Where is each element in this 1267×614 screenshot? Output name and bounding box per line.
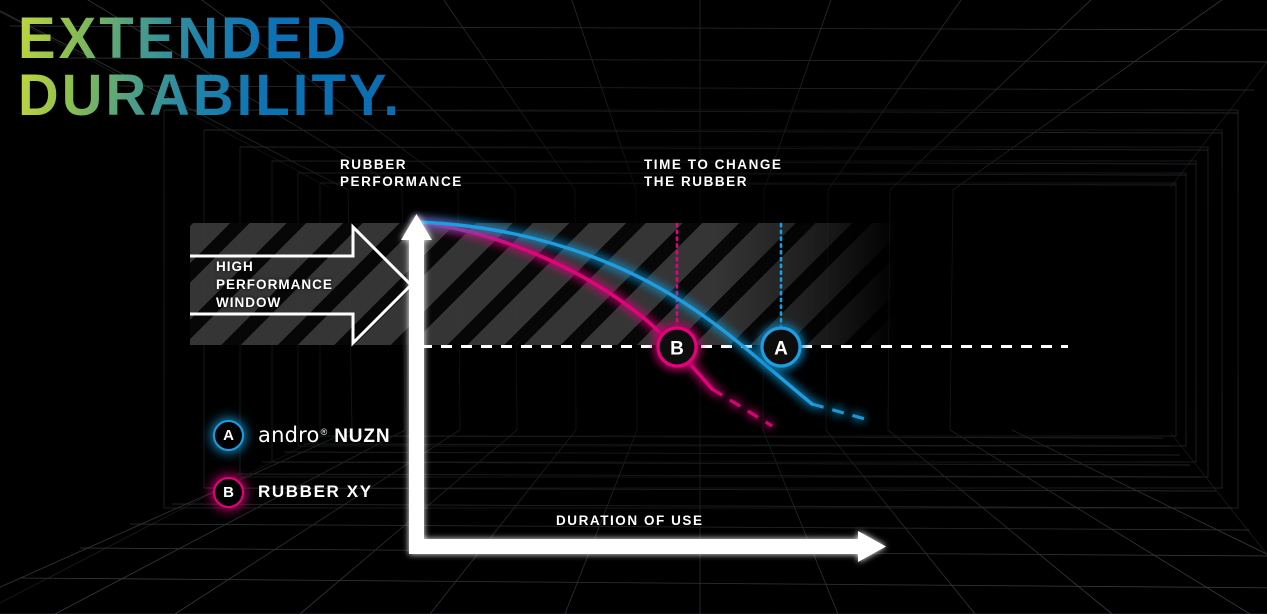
- x-axis-arrowhead: [858, 531, 886, 562]
- page-title: EXTENDED DURABILITY.: [18, 12, 414, 123]
- annotation-rubber-performance-line-1: RUBBER: [340, 157, 463, 174]
- brand-name-andro: andro: [258, 423, 320, 447]
- annotation-time-to-change-line-2: THE RUBBER: [644, 174, 783, 191]
- chart-axes: [401, 214, 886, 562]
- annotation-rubber-performance-line-2: PERFORMANCE: [340, 174, 463, 191]
- annotation-time-to-change-line-1: TIME TO CHANGE: [644, 157, 783, 174]
- legend-text-rubber-xy: RUBBER XY: [258, 482, 373, 502]
- legend-label-andro-nuzn: andro ® NUZN: [258, 423, 390, 448]
- brand-model-nuzn: NUZN: [334, 426, 390, 448]
- legend-badge-b-letter: B: [223, 485, 234, 500]
- legend-item-rubber-xy[interactable]: B RUBBER XY: [213, 475, 390, 509]
- hpw-line-1: HIGH: [216, 258, 333, 276]
- hpw-line-3: WINDOW: [216, 294, 333, 312]
- registered-trademark-icon: ®: [321, 427, 328, 437]
- series-rubber-xy-tail: [712, 389, 772, 426]
- chart-marker-a[interactable]: A: [762, 328, 800, 366]
- infographic-stage: EXTENDED DURABILITY. HIGH PERFORMANCE WI…: [0, 0, 1267, 614]
- legend-label-rubber-xy: RUBBER XY: [258, 482, 373, 502]
- chart-marker-b[interactable]: B: [658, 328, 696, 366]
- chart-marker-a-label: A: [774, 339, 788, 360]
- annotation-rubber-performance: RUBBER PERFORMANCE: [340, 157, 463, 191]
- chart-marker-b-label: B: [670, 339, 684, 360]
- headline-line-1: EXTENDED: [18, 12, 402, 65]
- series-andro-nuzn-line: [416, 222, 812, 404]
- x-axis-label: DURATION OF USE: [556, 513, 704, 528]
- annotation-time-to-change: TIME TO CHANGE THE RUBBER: [644, 157, 783, 191]
- series-andro-nuzn-tail: [812, 404, 872, 421]
- legend-badge-b-icon: B: [213, 477, 244, 508]
- y-axis-arrowhead: [401, 214, 432, 240]
- hpw-line-2: PERFORMANCE: [216, 276, 333, 294]
- series-rubber-xy: [416, 222, 772, 426]
- legend-item-andro-nuzn[interactable]: A andro ® NUZN: [213, 418, 390, 452]
- series-andro-nuzn: [416, 222, 872, 421]
- legend-badge-a-icon: A: [213, 420, 244, 451]
- legend-badge-a-letter: A: [223, 428, 234, 443]
- headline-line-2: DURABILITY.: [18, 69, 402, 122]
- high-performance-window-label: HIGH PERFORMANCE WINDOW: [216, 258, 333, 311]
- chart-legend: A andro ® NUZN B RUBBER XY: [213, 418, 390, 532]
